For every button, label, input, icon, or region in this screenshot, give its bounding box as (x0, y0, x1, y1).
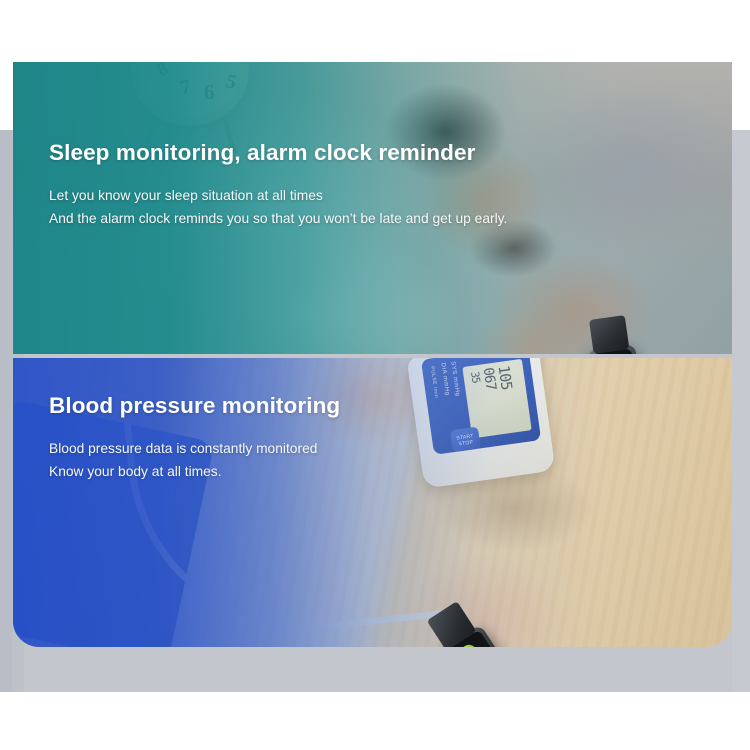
sleep-subline: Let you know your sleep situation at all… (49, 188, 507, 203)
blood-pressure-copy-block: Blood pressure monitoring Blood pressure… (49, 393, 340, 479)
sleep-headline: Sleep monitoring, alarm clock reminder (49, 140, 507, 166)
page-canvas: 8 7 6 5 08:05 (0, 0, 750, 750)
banner-sleep-monitoring[interactable]: 8 7 6 5 08:05 (13, 62, 732, 354)
blood-pressure-subline: Blood pressure data is constantly monito… (49, 441, 340, 456)
sleep-subline: And the alarm clock reminds you so that … (49, 211, 507, 226)
banner-blood-pressure-monitoring[interactable]: SYS mmHg DIA mmHg PULSE /min 105 067 35 … (13, 358, 732, 647)
watch-strap-top (589, 315, 629, 354)
banner-stack: 8 7 6 5 08:05 (13, 62, 732, 647)
sleep-copy-block: Sleep monitoring, alarm clock reminder L… (49, 140, 507, 226)
backing-plate-right (732, 130, 750, 692)
blood-pressure-headline: Blood pressure monitoring (49, 393, 340, 419)
blood-pressure-subline: Know your body at all times. (49, 464, 340, 479)
watch-heart-icon (458, 642, 480, 647)
